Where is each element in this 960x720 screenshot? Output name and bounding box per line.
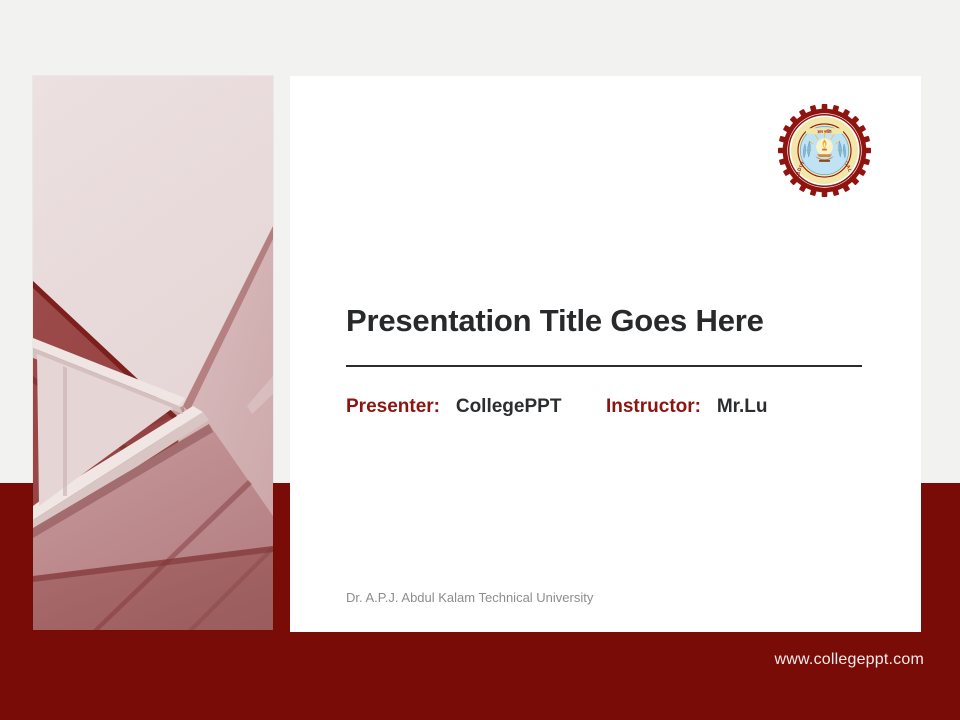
architecture-photo-art	[33, 76, 273, 630]
title-divider	[346, 365, 862, 367]
architecture-photo	[33, 76, 273, 630]
site-url: www.collegeppt.com	[775, 651, 924, 669]
instructor-label: Instructor:	[606, 396, 701, 417]
page-title: Presentation Title Goes Here	[346, 303, 764, 339]
slide-content-card: DR. A.P.J. ABDUL KALAM TECHNICAL UNIVERS…	[290, 76, 921, 632]
university-seal-icon: DR. A.P.J. ABDUL KALAM TECHNICAL UNIVERS…	[778, 104, 871, 197]
byline: Presenter: CollegePPT Instructor: Mr.Lu	[346, 396, 768, 418]
presentation-slide: www.collegeppt.com	[0, 0, 960, 720]
university-name-note: Dr. A.P.J. Abdul Kalam Technical Univers…	[346, 590, 593, 605]
university-seal-art: DR. A.P.J. ABDUL KALAM TECHNICAL UNIVERS…	[778, 104, 871, 197]
presenter-value: CollegePPT	[456, 396, 562, 417]
instructor-value: Mr.Lu	[717, 396, 768, 417]
presenter-label: Presenter:	[346, 396, 440, 417]
